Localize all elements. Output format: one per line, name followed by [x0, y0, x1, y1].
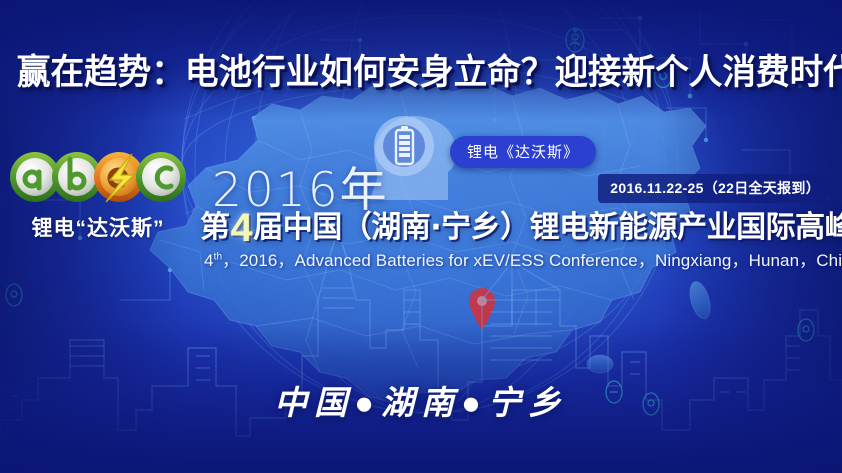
edition-number: 4: [230, 206, 254, 250]
conference-title-cn: 第4届中国（湖南·宁乡）锂电新能源产业国际高峰论坛: [200, 202, 840, 251]
title-prefix: 第: [200, 210, 230, 245]
conference-title-en: 4th，2016，Advanced Batteries for xEV/ESS …: [204, 246, 842, 271]
location-caption: 中国●湖南●宁乡: [0, 376, 842, 424]
edition-ordinal-suffix: th: [214, 251, 223, 262]
conference-banner: 赢在趋势：电池行业如何安身立命？迎接新个人消费时代: [0, 0, 842, 473]
page-title: 赢在趋势：电池行业如何安身立命？迎接新个人消费时代: [17, 44, 825, 95]
davos-label-pill: 锂电《达沃斯》: [450, 136, 596, 168]
title-suffix: 届中国（湖南·宁乡）锂电新能源产业国际高峰论坛: [253, 210, 842, 245]
edition-number-en: 4: [204, 251, 214, 270]
abec-logo-subtitle: 锂电“达沃斯”: [8, 212, 188, 242]
abec-logo-letters: [8, 148, 188, 206]
title-en-rest: ，2016，Advanced Batteries for xEV/ESS Con…: [222, 251, 842, 270]
conference-date-badge: 2016.11.22-25（22日全天报到）: [598, 174, 832, 203]
abec-logo: 锂电“达沃斯”: [8, 148, 188, 242]
